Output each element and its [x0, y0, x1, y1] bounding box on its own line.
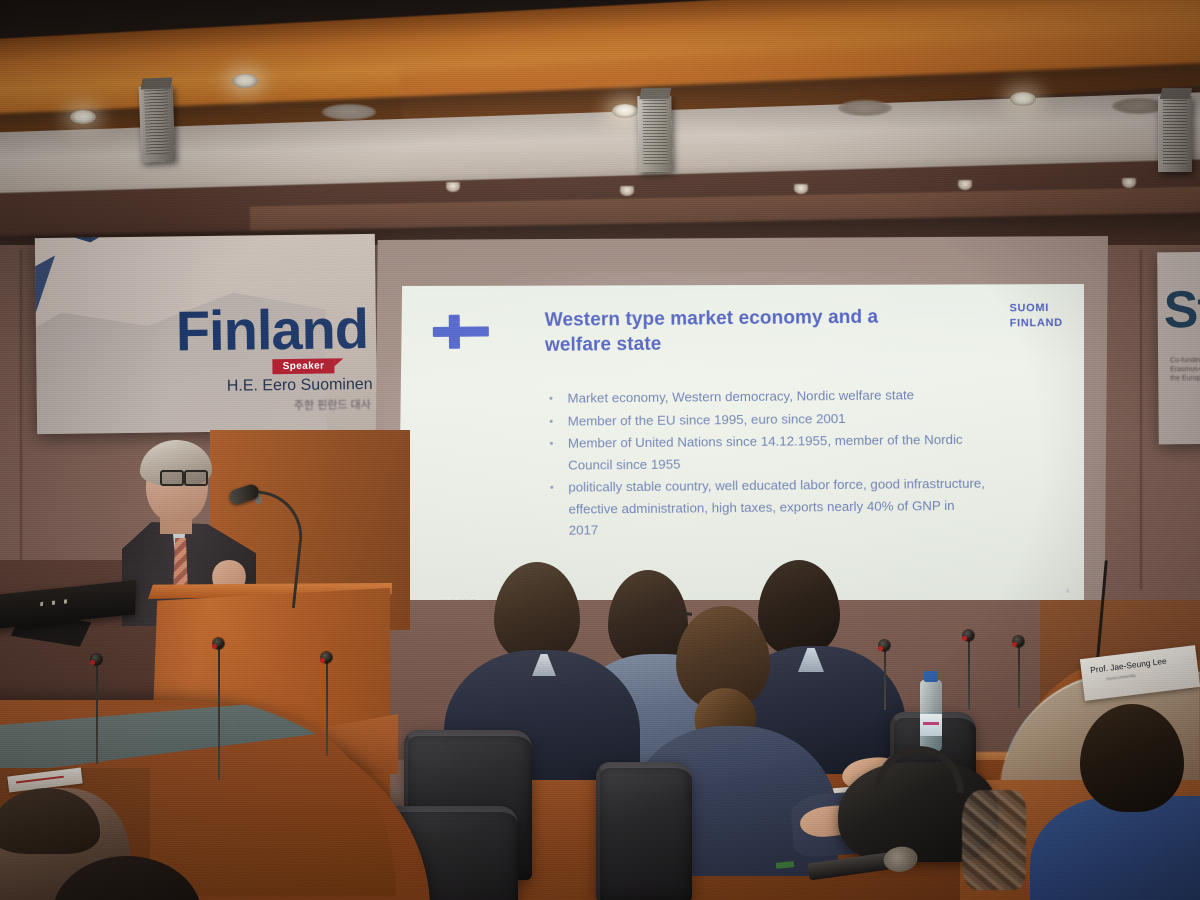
bottle-label	[920, 714, 942, 736]
downlight-icon	[612, 104, 638, 118]
foreground-shirt	[1030, 796, 1200, 900]
bottle-cap	[924, 671, 938, 682]
banner-speaker-tag: Speaker	[273, 358, 335, 374]
secondary-banner-heading: Sta	[1163, 280, 1200, 341]
secondary-banner-subtext: Co-funded by the Erasmus+ Programme of t…	[1170, 356, 1200, 384]
placard-name: Prof. Jae-Seung Lee	[1090, 656, 1167, 675]
desk-microphone	[320, 652, 332, 756]
downlight-icon	[70, 110, 96, 124]
track-light-icon	[1122, 178, 1136, 188]
slide-page-marker: 4	[1066, 589, 1069, 595]
secondary-banner: Sta Co-funded by the Erasmus+ Programme …	[1157, 252, 1200, 445]
presentation-room-photo: Finland Speaker H.E. Eero Suominen 주한 핀란…	[0, 0, 1200, 900]
microphone-stem	[884, 646, 886, 710]
microphone-led	[1012, 642, 1017, 647]
glasses-icon	[160, 470, 210, 483]
banner-country-title: Finland	[175, 296, 368, 363]
wall-speaker-icon	[139, 85, 176, 162]
desk-microphone	[1012, 636, 1024, 708]
flag-horizontal-bar	[433, 326, 489, 337]
microphone-led	[878, 646, 883, 651]
track-light-icon	[794, 184, 808, 194]
downlight-icon	[232, 74, 258, 88]
placard-affiliation: Korea University	[1106, 673, 1136, 682]
chair	[596, 762, 692, 900]
audience-head	[494, 562, 580, 662]
wall-seam	[20, 250, 22, 600]
foreground-head	[1080, 704, 1184, 812]
downlight-icon	[1010, 92, 1036, 106]
speaker-bracket	[141, 77, 173, 89]
wall-speaker-icon	[1158, 96, 1192, 172]
desk-microphone	[90, 654, 102, 764]
suomi-finland-logo: SUOMI FINLAND	[1009, 301, 1062, 332]
banner-speaker-name: H.E. Eero Suominen	[227, 376, 373, 396]
microphone-stem	[218, 644, 220, 780]
patterned-bag	[962, 790, 1026, 890]
slide-bullet-list: Market economy, Western democracy, Nordi…	[545, 384, 986, 543]
foreground-hair	[0, 788, 100, 854]
microphone-stem	[1018, 642, 1020, 708]
slide-bullet-item: politically stable country, well educate…	[546, 473, 987, 542]
ceiling-vent-icon	[838, 100, 892, 116]
banner-speaker-name-korean: 주한 핀란드 대사	[294, 396, 371, 413]
microphone-stem	[326, 658, 328, 756]
ceiling-vent-icon	[322, 104, 376, 120]
flag-vertical-bar	[449, 315, 460, 349]
microphone-stem	[968, 636, 970, 710]
speaker-bracket	[639, 88, 671, 100]
finland-banner: Finland Speaker H.E. Eero Suominen 주한 핀란…	[35, 234, 377, 434]
microphone-stem	[96, 660, 98, 764]
track-light-icon	[446, 182, 460, 192]
microphone-led	[962, 636, 967, 641]
speaker-bracket	[1160, 88, 1192, 99]
microphone-led	[90, 660, 95, 665]
wall-seam	[1140, 250, 1142, 590]
desk-microphone	[212, 638, 224, 780]
slide-bullet-item: Member of United Nations since 14.12.195…	[546, 429, 986, 476]
slide-bullet-item: Market economy, Western democracy, Nordi…	[545, 384, 985, 410]
logo-line-suomi: SUOMI	[1009, 301, 1062, 317]
track-light-icon	[620, 186, 634, 196]
desk-microphone	[962, 630, 974, 710]
microphone-led	[212, 644, 217, 649]
logo-line-finland: FINLAND	[1010, 316, 1063, 332]
slide-bullet-item: Member of the EU since 1995, euro since …	[546, 406, 986, 432]
finnish-flag-cross-icon	[433, 314, 489, 349]
microphone-led	[320, 658, 325, 663]
track-light-icon	[958, 180, 972, 190]
foreground-person-blue	[1040, 704, 1200, 900]
slide-title: Western type market economy and a welfar…	[545, 304, 945, 358]
water-bottle	[920, 680, 942, 752]
desk-microphone	[878, 640, 890, 710]
wall-speaker-icon	[637, 96, 672, 173]
